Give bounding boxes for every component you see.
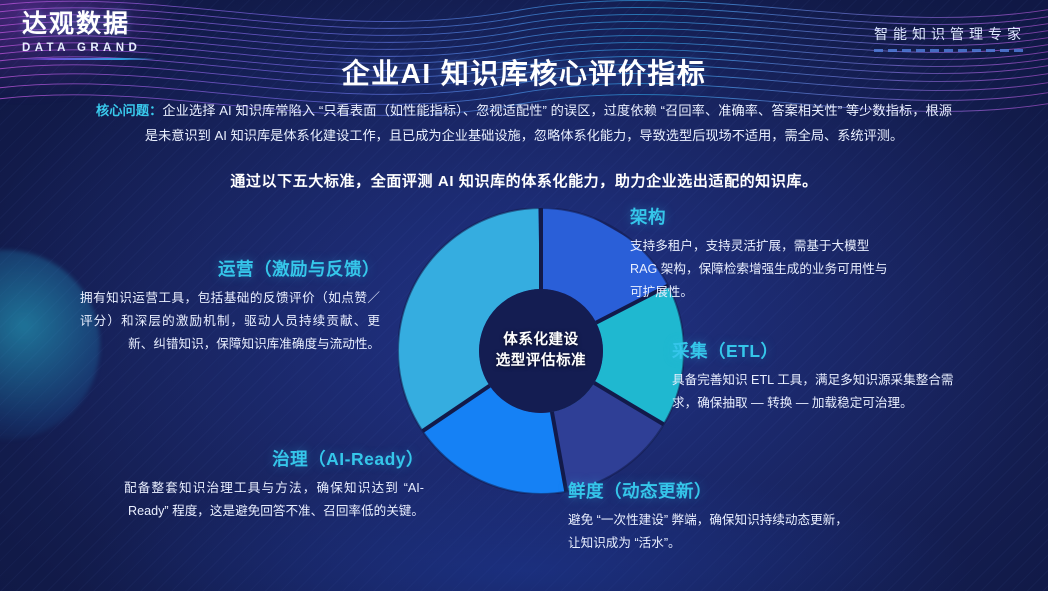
callout-governance-body: 配备整套知识治理工具与方法，确保知识达到 “AI-Ready” 程度，这是避免回… bbox=[124, 477, 424, 523]
page-title: 企业AI 知识库核心评价指标 bbox=[0, 52, 1048, 92]
logo-chinese-name: 达观数据 bbox=[22, 10, 141, 40]
callout-architecture-title: 架构 bbox=[630, 204, 892, 229]
aperture-center-hub bbox=[479, 289, 603, 413]
header-tagline: 智能知识管理专家 bbox=[874, 24, 1026, 44]
callout-architecture-body: 支持多租户，支持灵活扩展，需基于大模型 RAG 架构，保障检索增强生成的业务可用… bbox=[630, 235, 892, 304]
callout-governance: 治理（AI-Ready） 配备整套知识治理工具与方法，确保知识达到 “AI-Re… bbox=[124, 446, 424, 523]
callout-operations: 运营（激励与反馈） 拥有知识运营工具，包括基础的反馈评价（如点赞／评分）和深层的… bbox=[80, 256, 380, 356]
callout-operations-body: 拥有知识运营工具，包括基础的反馈评价（如点赞／评分）和深层的激励机制，驱动人员持… bbox=[80, 287, 380, 356]
intro-keyword: 核心问题： bbox=[96, 103, 162, 118]
intro-body: 企业选择 AI 知识库常陷入 “只看表面（如性能指标）、忽视适配性” 的误区，过… bbox=[145, 103, 952, 143]
callout-freshness: 鲜度（动态更新） 避免 “一次性建设” 弊端，确保知识持续动态更新，让知识成为 … bbox=[568, 478, 848, 555]
callout-etl-title: 采集（ETL） bbox=[672, 338, 972, 363]
callout-freshness-title: 鲜度（动态更新） bbox=[568, 478, 848, 503]
callout-architecture: 架构 支持多租户，支持灵活扩展，需基于大模型 RAG 架构，保障检索增强生成的业… bbox=[630, 204, 892, 304]
callout-operations-title: 运营（激励与反馈） bbox=[80, 256, 380, 281]
callout-etl: 采集（ETL） 具备完善知识 ETL 工具，满足多知识源采集整合需求，确保抽取 … bbox=[672, 338, 972, 415]
callout-governance-title: 治理（AI-Ready） bbox=[124, 446, 424, 471]
intro-paragraph: 核心问题：企业选择 AI 知识库常陷入 “只看表面（如性能指标）、忽视适配性” … bbox=[96, 98, 952, 148]
callout-freshness-body: 避免 “一次性建设” 弊端，确保知识持续动态更新，让知识成为 “活水”。 bbox=[568, 509, 848, 555]
header-tagline-block: 智能知识管理专家 bbox=[874, 24, 1026, 52]
callout-etl-body: 具备完善知识 ETL 工具，满足多知识源采集整合需求，确保抽取 — 转换 — 加… bbox=[672, 369, 972, 415]
subtitle: 通过以下五大标准，全面评测 AI 知识库的体系化能力，助力企业选出适配的知识库。 bbox=[0, 170, 1048, 191]
brand-logo: 达观数据 DATA GRAND bbox=[22, 10, 141, 54]
